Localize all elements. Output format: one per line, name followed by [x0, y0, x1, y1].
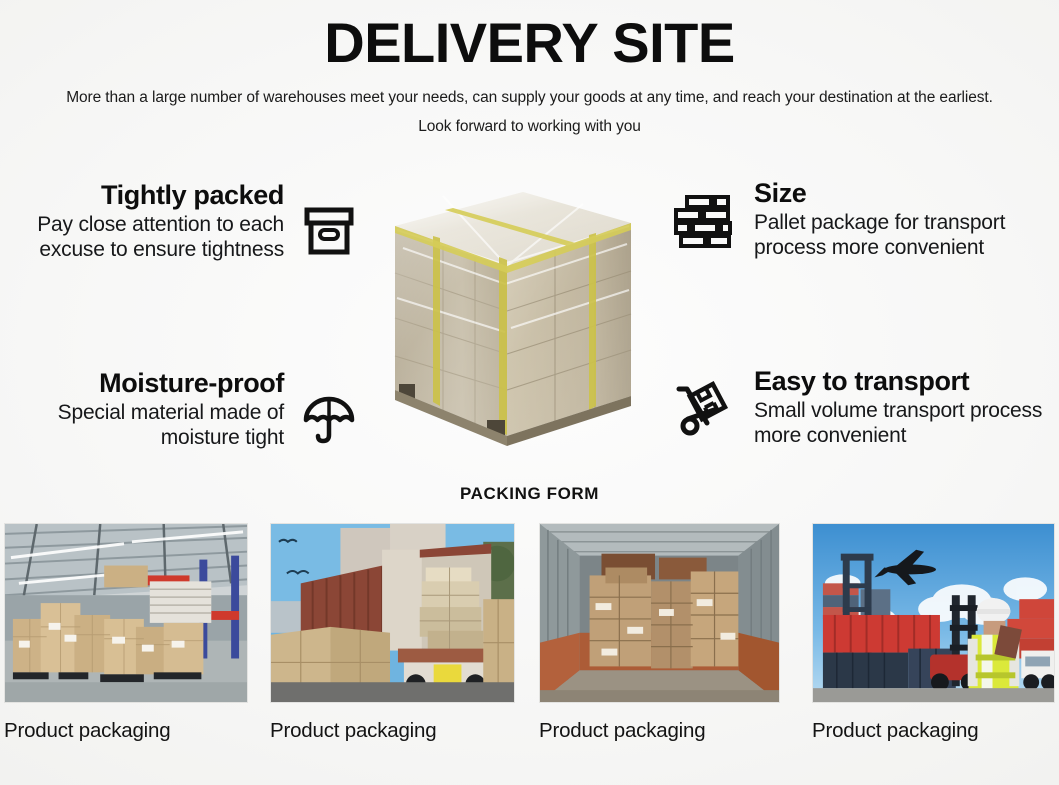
feature-text-block: Size Pallet package for transport proces… [754, 178, 1059, 260]
brick-wall-icon [672, 190, 734, 252]
photo-gallery: Product packaging [0, 523, 1059, 783]
hand-truck-icon [672, 378, 734, 440]
feature-description: Special material made of moisture tight [0, 401, 284, 450]
gallery-item-4: Product packaging [812, 523, 1055, 743]
container-loading-photo [270, 523, 515, 703]
photo-caption: Product packaging [812, 719, 1055, 743]
logistics-yard-photo [812, 523, 1055, 703]
gallery-item-2: Product packaging [270, 523, 515, 743]
page-title: DELIVERY SITE [0, 14, 1059, 73]
photo-caption: Product packaging [4, 719, 248, 743]
page-header: DELIVERY SITE More than a large number o… [0, 0, 1059, 136]
feature-text-block: Moisture-proof Special material made of … [0, 368, 284, 450]
feature-easy-to-transport: Easy to transport Small volume transport… [672, 366, 1059, 448]
feature-description: Pallet package for transport process mor… [754, 211, 1059, 260]
feature-tightly-packed: Tightly packed Pay close attention to ea… [0, 180, 360, 262]
feature-title: Tightly packed [0, 180, 284, 210]
feature-description: Small volume transport process more conv… [754, 399, 1059, 448]
feature-description: Pay close attention to each excuse to en… [0, 213, 284, 262]
umbrella-icon [298, 388, 360, 450]
gallery-item-3: Product packaging [539, 523, 780, 743]
page-subtitle-line2: Look forward to working with you [0, 118, 1059, 136]
page-subtitle-line1: More than a large number of warehouses m… [0, 89, 1059, 107]
feature-text-block: Tightly packed Pay close attention to ea… [0, 180, 284, 262]
loaded-container-photo [539, 523, 780, 703]
feature-title: Moisture-proof [0, 368, 284, 398]
archive-box-icon [298, 200, 360, 262]
feature-title: Size [754, 178, 1059, 208]
feature-text-block: Easy to transport Small volume transport… [754, 366, 1059, 448]
warehouse-interior-photo [4, 523, 248, 703]
packing-form-heading: PACKING FORM [0, 484, 1059, 504]
wrapped-pallet-photo [383, 178, 638, 453]
photo-caption: Product packaging [539, 719, 780, 743]
gallery-item-1: Product packaging [4, 523, 248, 743]
feature-size: Size Pallet package for transport proces… [672, 178, 1059, 260]
photo-caption: Product packaging [270, 719, 515, 743]
feature-moisture-proof: Moisture-proof Special material made of … [0, 368, 360, 450]
delivery-site-page: DELIVERY SITE More than a large number o… [0, 0, 1059, 785]
feature-title: Easy to transport [754, 366, 1059, 396]
